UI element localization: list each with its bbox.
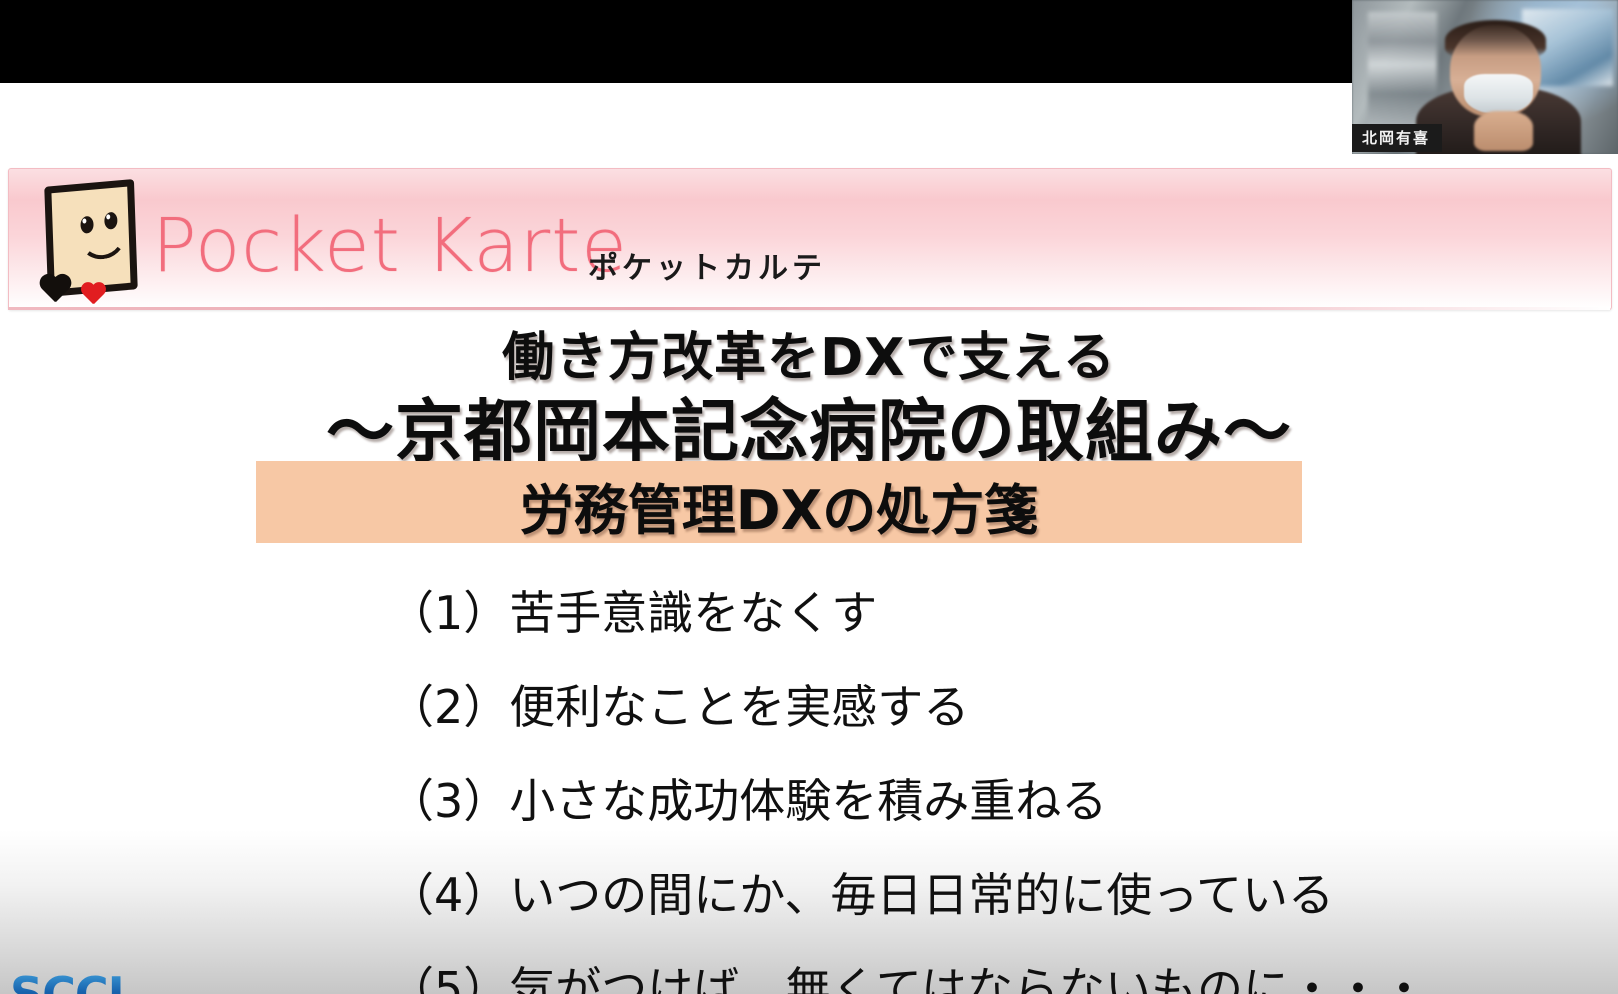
sccj-logo: SCCJ Sustainable Community Center Japan	[10, 971, 240, 994]
mascot-eye-left	[80, 216, 94, 234]
black-heart-icon	[38, 275, 72, 307]
list-item: （5）気がつけば、無くてはならないものに・・・	[388, 959, 1568, 994]
pocket-karte-katakana: ポケットカルテ	[588, 243, 826, 287]
mascot-smile	[78, 229, 128, 262]
pocket-karte-wordmark: Pocket Karte	[152, 209, 628, 283]
webcam-participant-name: 北岡有喜	[1352, 124, 1442, 152]
banner-underline	[8, 307, 1610, 310]
slide-canvas: Pocket Karte ポケットカルテ 働き方改革をDXで支える 〜京都岡本記…	[0, 83, 1618, 994]
webcam-pip[interactable]: 北岡有喜	[1352, 0, 1618, 154]
smiling-card-mascot-icon	[38, 183, 138, 308]
list-item: （4）いつの間にか、毎日日常的に使っている	[388, 865, 1568, 959]
list-item: （1）苦手意識をなくす	[388, 583, 1568, 677]
slide-subtitle: 労務管理DXの処方箋	[256, 466, 1302, 545]
sccj-wordmark: SCCJ	[10, 971, 240, 994]
red-heart-icon	[80, 283, 106, 307]
webcam-speaker-hand	[1474, 111, 1533, 151]
webcam-speaker-face-mask	[1464, 74, 1533, 114]
mascot-eye-right	[104, 212, 118, 230]
presentation-stage: Pocket Karte ポケットカルテ 働き方改革をDXで支える 〜京都岡本記…	[0, 0, 1618, 994]
list-item: （2）便利なことを実感する	[388, 677, 1568, 771]
list-item: （3）小さな成功体験を積み重ねる	[388, 771, 1568, 865]
prescription-list: （1）苦手意識をなくす （2）便利なことを実感する （3）小さな成功体験を積み重…	[388, 583, 1568, 994]
